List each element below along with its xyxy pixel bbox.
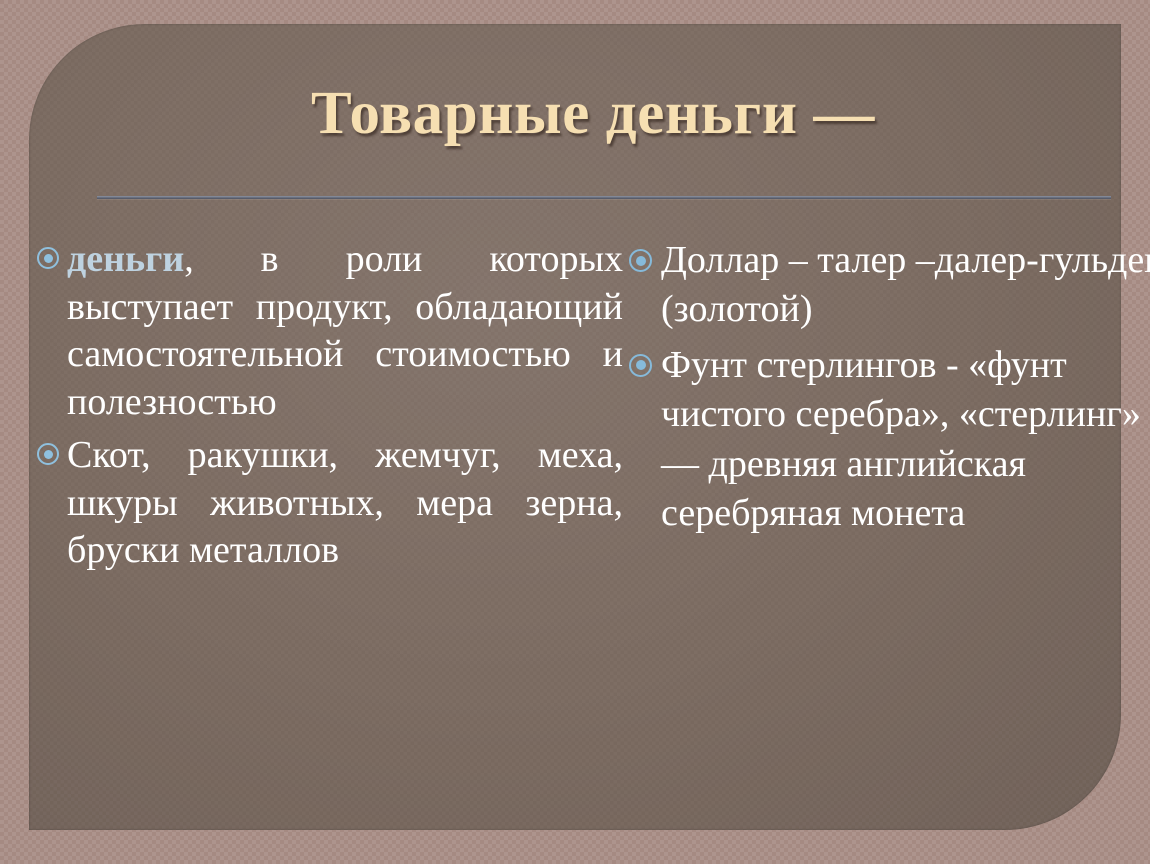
list-item: Доллар – талер –далер-гульден (золотой) [629, 236, 1150, 335]
left-column: деньги, в роли которых выступает продукт… [29, 236, 629, 581]
title-block: Товарные деньги — [75, 82, 1111, 147]
bullet-target-icon [629, 354, 652, 377]
right-column: Доллар – талер –далер-гульден (золотой) … [629, 236, 1150, 544]
slide-title: Товарные деньги — [75, 82, 1111, 147]
list-item: Фунт стерлингов - «фунт чистого серебра»… [629, 341, 1150, 539]
two-column-body: деньги, в роли которых выступает продукт… [29, 236, 1150, 836]
presentation-slide: Товарные деньги — деньги, в роли которых… [0, 0, 1150, 864]
bullet-text: Скот, ракушки, жемчуг, меха, шкуры живот… [67, 432, 623, 575]
bullet-text: деньги, в роли которых выступает продукт… [67, 236, 623, 426]
bullet-body-text: Скот, ракушки, жемчуг, меха, шкуры живот… [67, 434, 623, 571]
slide-content-panel: Товарные деньги — деньги, в роли которых… [29, 24, 1121, 830]
bullet-text: Фунт стерлингов - «фунт чистого серебра»… [661, 341, 1150, 539]
bullet-text: Доллар – талер –далер-гульден (золотой) [661, 236, 1150, 335]
bullet-body-text: Доллар – талер –далер-гульден (золотой) [661, 239, 1150, 330]
list-item: деньги, в роли которых выступает продукт… [37, 236, 623, 426]
bullet-target-icon [37, 247, 59, 269]
title-divider-rule [97, 196, 1111, 199]
emphasis-word: деньги [67, 238, 184, 280]
list-item: Скот, ракушки, жемчуг, меха, шкуры живот… [37, 432, 623, 575]
bullet-target-icon [629, 249, 652, 272]
bullet-target-icon [37, 443, 59, 465]
bullet-body-text: Фунт стерлингов - «фунт чистого серебра»… [661, 344, 1141, 534]
